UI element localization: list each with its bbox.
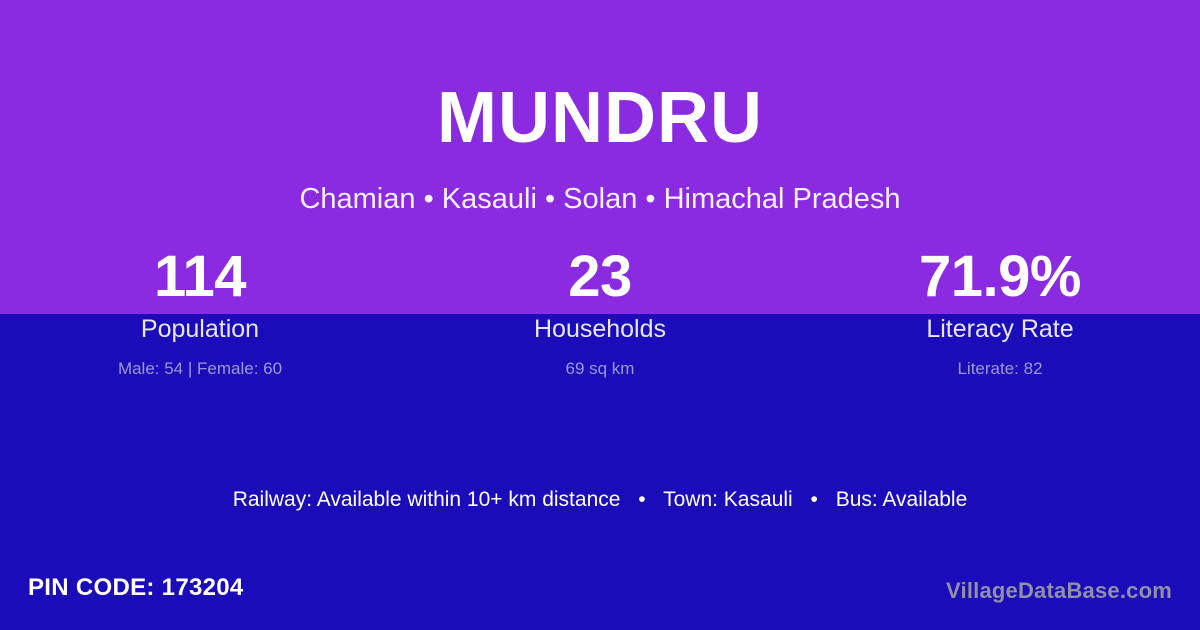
- village-info-card: MUNDRU Chamian • Kasauli • Solan • Himac…: [0, 0, 1200, 630]
- stat-literacy-rate: 71.9% Literacy Rate Literate: 82: [800, 248, 1200, 377]
- footer: PIN CODE: 173204 VillageDataBase.com: [0, 560, 1200, 630]
- site-brand: VillageDataBase.com: [946, 580, 1172, 602]
- stat-value-literacy-rate: 71.9%: [800, 248, 1200, 314]
- pin-code: PIN CODE: 173204: [28, 576, 244, 600]
- stat-sub-households: 69 sq km: [400, 360, 800, 377]
- page-title: MUNDRU: [0, 82, 1200, 154]
- amenity-separator: •: [799, 487, 830, 512]
- stat-value-population: 114: [0, 248, 400, 314]
- amenity-town: Town: Kasauli: [663, 488, 793, 511]
- stat-label-literacy-rate: Literacy Rate: [800, 317, 1200, 342]
- stat-value-households: 23: [400, 248, 800, 314]
- stat-label-population: Population: [0, 317, 400, 342]
- amenity-railway: Railway: Available within 10+ km distanc…: [233, 488, 621, 511]
- stat-population: 114 Population Male: 54 | Female: 60: [0, 248, 400, 377]
- breadcrumb: Chamian • Kasauli • Solan • Himachal Pra…: [0, 182, 1200, 217]
- amenity-separator: •: [626, 487, 657, 512]
- stat-households: 23 Households 69 sq km: [400, 248, 800, 377]
- stats-row: 114 Population Male: 54 | Female: 60 23 …: [0, 248, 1200, 377]
- stat-sub-population: Male: 54 | Female: 60: [0, 360, 400, 377]
- stat-sub-literacy-rate: Literate: 82: [800, 360, 1200, 377]
- amenities-row: Railway: Available within 10+ km distanc…: [0, 487, 1200, 512]
- amenity-bus: Bus: Available: [836, 488, 968, 511]
- stat-label-households: Households: [400, 317, 800, 342]
